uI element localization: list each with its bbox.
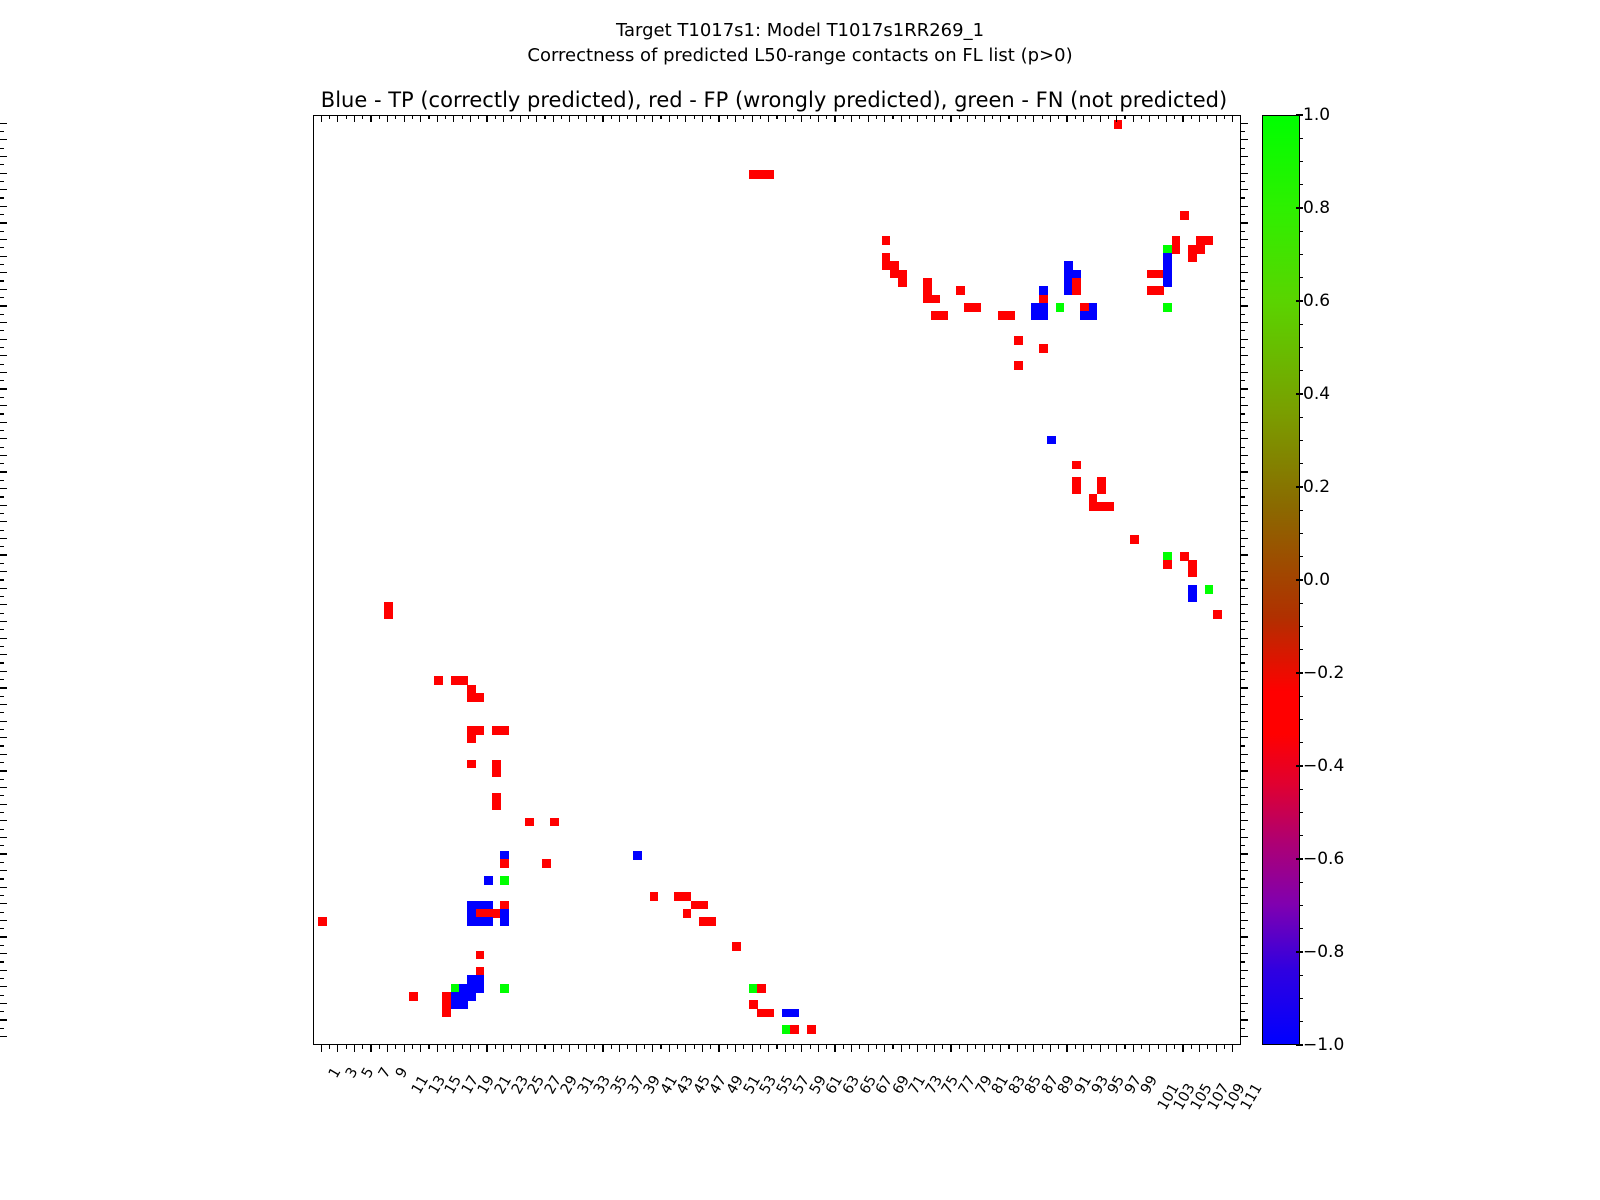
colorbar-minor-tick-mark [1299,696,1303,697]
top-tick-mark [362,115,363,119]
heatmap-cell-fp [766,170,775,179]
x-tick-mark [950,1045,951,1052]
x-tick-mark [644,1045,645,1049]
heatmap-cell-fp [898,278,907,287]
top-tick-mark [876,115,877,119]
heatmap-cell-fp [1180,211,1189,220]
right-tick-mark [1241,853,1248,854]
y-tick-mark [0,687,7,688]
top-tick-mark [884,115,885,122]
y-tick-mark [0,256,7,257]
top-tick-mark [818,115,819,122]
colorbar-minor-tick-mark [1299,463,1303,464]
top-tick-mark [834,115,835,122]
x-tick-mark [909,1045,910,1049]
top-tick-mark [495,115,496,119]
x-tick-mark [495,1045,496,1049]
y-tick-mark [0,314,4,315]
y-tick-mark [0,156,7,157]
right-tick-mark [1241,496,1245,497]
top-tick-mark [1100,115,1101,122]
colorbar-minor-tick-mark [1299,440,1303,441]
y-axis: 1357911131517192123252729313335373941434… [0,115,313,1045]
x-tick-mark [743,1045,744,1049]
right-tick-mark [1241,405,1248,406]
heatmap-cell-fp [1014,336,1023,345]
x-tick-mark [354,1045,355,1052]
right-tick-mark [1241,156,1248,157]
x-tick-mark [586,1045,587,1052]
top-tick-mark [1224,115,1225,119]
x-tick-mark [1058,1045,1059,1049]
x-tick-mark [462,1045,463,1049]
x-tick-mark [660,1045,661,1049]
right-tick-mark [1241,505,1248,506]
x-tick-mark [1100,1045,1101,1052]
right-tick-mark [1241,820,1248,821]
right-tick-mark [1241,804,1248,805]
y-tick-mark [0,347,4,348]
right-tick-mark [1241,289,1248,290]
top-tick-mark [404,115,405,122]
heatmap-cell-fp [1039,344,1048,353]
right-tick-mark [1241,737,1248,738]
figure-suptitle: Target T1017s1: Model T1017s1RR269_1 Cor… [0,18,1600,68]
colorbar-tick-label: −0.4 [1303,756,1344,776]
y-tick-mark [0,521,7,522]
right-tick-mark [1241,554,1248,555]
colorbar-minor-tick-mark [1299,1021,1303,1022]
heatmap-cells [314,116,1240,1044]
x-tick-mark [702,1045,703,1052]
right-tick-mark [1241,687,1248,688]
y-tick-mark [0,322,7,323]
x-tick-mark [892,1045,893,1049]
right-tick-mark [1241,870,1248,871]
y-tick-mark [0,364,4,365]
top-tick-mark [337,115,338,122]
top-tick-mark [520,115,521,122]
x-tick-mark [1124,1045,1125,1049]
heatmap-cell-fn [500,876,509,885]
heatmap-cell-fp [1163,560,1172,569]
heatmap-cell-fp [476,693,485,702]
x-tick-mark [718,1045,719,1052]
x-tick-mark [1182,1045,1183,1052]
y-tick-mark [0,654,7,655]
x-tick-mark [379,1045,380,1049]
top-tick-mark [503,115,504,122]
heatmap-cell-fp [1072,461,1081,470]
top-tick-mark [1091,115,1092,119]
colorbar-minor-tick-mark [1299,719,1303,720]
top-tick-mark [1191,115,1192,119]
heatmap-cell-tp [1039,311,1048,320]
y-tick-mark [0,513,4,514]
y-tick-mark [0,330,4,331]
x-tick-mark [810,1045,811,1049]
right-tick-mark [1241,920,1248,921]
heatmap-cell-tp [633,851,642,860]
y-tick-mark [0,546,4,547]
top-tick-mark [1124,115,1125,119]
x-tick-mark [636,1045,637,1052]
top-tick-mark [776,115,777,119]
right-tick-mark [1241,970,1248,971]
right-tick-mark [1241,862,1245,863]
heatmap-cell-tp [1163,278,1172,287]
y-tick-mark [0,862,4,863]
x-tick-mark [1133,1045,1134,1052]
y-tick-mark [0,554,7,555]
colorbar-minor-tick-mark [1299,812,1303,813]
top-tick-mark [926,115,927,119]
x-tick-mark [727,1045,728,1049]
top-tick-mark [1008,115,1009,119]
right-tick-mark [1241,812,1245,813]
top-tick-mark [594,115,595,119]
y-tick-mark [0,355,7,356]
x-tick-mark [1083,1045,1084,1052]
y-tick-mark [0,588,7,589]
y-tick-mark [0,679,4,680]
x-tick-mark [544,1045,545,1049]
top-tick-mark [1033,115,1034,122]
right-tick-mark [1241,679,1245,680]
right-tick-mark [1241,463,1245,464]
top-tick-mark [851,115,852,122]
heatmap-cell-fp [1205,236,1214,245]
right-tick-mark [1241,339,1248,340]
right-tick-mark [1241,837,1248,838]
right-tick-mark [1241,413,1245,414]
top-tick-mark [1075,115,1076,119]
top-tick-mark [810,115,811,119]
x-tick-mark [470,1045,471,1052]
x-tick-mark [370,1045,371,1052]
x-tick-mark [710,1045,711,1049]
y-tick-mark [0,455,7,456]
right-tick-mark [1241,239,1248,240]
right-tick-mark [1241,430,1245,431]
x-tick-mark [677,1045,678,1049]
x-axis: 1357911131517192123252729313335373941434… [313,1045,1241,1200]
right-tick-mark [1241,671,1248,672]
top-tick-mark [743,115,744,119]
right-tick-mark [1241,961,1245,962]
top-tick-mark [470,115,471,122]
top-tick-mark [420,115,421,122]
heatmap-cell-fp [1014,361,1023,370]
top-tick-mark [702,115,703,122]
top-tick-mark [1042,115,1043,119]
y-tick-mark [0,837,7,838]
y-tick-mark [0,646,4,647]
colorbar-tick-mark [1296,300,1303,301]
heatmap-cell-fp [492,801,501,810]
x-tick-mark [685,1045,686,1052]
heatmap-cell-tp [467,992,476,1001]
x-tick-mark [760,1045,761,1049]
y-tick-mark [0,496,4,497]
x-tick-mark [486,1045,487,1052]
colorbar-tick-label: 0.6 [1303,291,1330,311]
right-tick-mark [1241,397,1245,398]
y-tick-mark [0,787,7,788]
x-tick-label: 1 [326,1065,344,1081]
heatmap-cell-fp [500,726,509,735]
heatmap-cell-fp [1114,120,1123,129]
colorbar-minor-tick-mark [1299,556,1303,557]
top-tick-mark [652,115,653,122]
x-tick-mark [793,1045,794,1049]
y-tick-mark [0,297,4,298]
x-tick-mark [1000,1045,1001,1052]
y-tick-mark [0,995,4,996]
right-tick-mark [1241,845,1245,846]
right-tick-mark [1241,455,1248,456]
y-tick-mark [0,239,7,240]
top-tick-mark [859,115,860,119]
colorbar-minor-tick-mark [1299,882,1303,883]
y-tick-mark [0,804,7,805]
x-tick-mark [1091,1045,1092,1049]
heatmap-cell-fn [500,984,509,993]
right-tick-mark [1241,355,1248,356]
x-tick-label: 9 [393,1065,411,1081]
x-tick-mark [1232,1045,1233,1052]
top-tick-mark [511,115,512,119]
right-tick-mark [1241,912,1245,913]
top-tick-mark [826,115,827,119]
x-tick-mark [511,1045,512,1049]
right-tick-mark [1241,721,1248,722]
right-tick-mark [1241,596,1245,597]
right-tick-mark [1241,173,1248,174]
top-tick-mark [677,115,678,119]
y-tick-mark [0,936,7,937]
colorbar [1262,115,1300,1045]
heatmap-cell-fp [476,726,485,735]
right-tick-mark [1241,604,1248,605]
top-tick-mark [1058,115,1059,119]
top-tick-mark [1158,115,1159,119]
heatmap-cell-fp [492,768,501,777]
right-tick-mark [1241,139,1248,140]
x-tick-mark [1108,1045,1109,1049]
y-tick-mark [0,629,4,630]
y-tick-mark [0,638,7,639]
heatmap-cell-fp [434,676,443,685]
top-tick-mark [486,115,487,122]
top-tick-mark [1083,115,1084,122]
top-tick-mark [354,115,355,122]
x-tick-mark [321,1045,322,1052]
right-tick-mark [1241,1036,1248,1037]
top-tick-mark [453,115,454,122]
x-tick-mark [942,1045,943,1049]
heatmap-cell-fp [940,311,949,320]
heatmap-cell-fp [766,1009,775,1018]
right-tick-mark [1241,729,1245,730]
heatmap-cell-fp [409,992,418,1001]
y-tick-mark [0,596,4,597]
right-tick-mark [1241,1011,1245,1012]
y-tick-mark [0,1028,4,1029]
x-tick-mark [868,1045,869,1052]
heatmap-cell-fp [757,984,766,993]
right-tick-mark [1241,530,1245,531]
top-tick-mark [1216,115,1217,122]
x-tick-mark [801,1045,802,1052]
x-tick-mark [776,1045,777,1049]
right-tick-mark [1241,231,1245,232]
top-tick-mark [412,115,413,119]
heatmap-cell-fp [790,1025,799,1034]
colorbar-minor-tick-mark [1299,231,1303,232]
colorbar-tick-mark [1296,672,1303,673]
top-tick-mark [1108,115,1109,119]
right-tick-mark [1241,347,1245,348]
y-tick-mark [0,488,7,489]
y-tick-mark [0,745,4,746]
x-tick-mark [694,1045,695,1049]
y-tick-mark [0,189,7,190]
top-tick-mark [1000,115,1001,122]
y-tick-mark [0,480,4,481]
colorbar-tick-label: 1.0 [1303,105,1330,125]
right-tick-mark [1241,895,1245,896]
colorbar-tick-label: −0.2 [1303,663,1344,683]
x-tick-mark [1158,1045,1159,1049]
heatmap-cell-tp [484,917,493,926]
right-tick-mark [1241,978,1245,979]
top-tick-mark [445,115,446,119]
heatmap-cell-fp [807,1025,816,1034]
right-tick-mark [1241,563,1245,564]
y-tick-mark [0,704,7,705]
y-tick-mark [0,579,4,580]
y-tick-mark [0,970,7,971]
right-tick-mark [1241,214,1245,215]
x-tick-mark [602,1045,603,1052]
right-tick-mark [1241,629,1245,630]
y-tick-mark [0,770,7,771]
y-tick-mark [0,912,4,913]
y-tick-mark [0,272,7,273]
heatmap-cell-fp [683,909,692,918]
heatmap-cell-fp [467,760,476,769]
y-tick-mark [0,621,7,622]
x-tick-mark [453,1045,454,1052]
y-tick-mark [0,887,7,888]
y-tick-mark [0,729,4,730]
right-tick-mark [1241,1003,1248,1004]
colorbar-minor-tick-mark [1299,324,1303,325]
top-tick-mark [627,115,628,119]
right-tick-mark [1241,471,1248,472]
heatmap-cell-fp [476,951,485,960]
y-tick-mark [0,895,4,896]
x-tick-mark [420,1045,421,1052]
top-tick-mark [395,115,396,119]
x-tick-mark [984,1045,985,1052]
right-tick-mark [1241,222,1248,223]
right-tick-mark [1241,704,1248,705]
top-tick-mark [1207,115,1208,119]
top-tick-mark [544,115,545,119]
heatmap-cell-fp [956,286,965,295]
right-tick-mark [1241,1028,1245,1029]
y-tick-mark [0,1011,4,1012]
heatmap-cell-tp [790,1009,799,1018]
right-tick-mark [1241,181,1245,182]
top-tick-mark [934,115,935,122]
x-tick-mark [1199,1045,1200,1052]
x-tick-mark [1216,1045,1217,1052]
right-tick-mark [1241,388,1248,389]
right-tick-mark [1241,588,1248,589]
y-tick-mark [0,206,7,207]
right-tick-mark [1241,770,1248,771]
heatmap-cell-fp [1130,535,1139,544]
x-tick-mark [1008,1045,1009,1049]
top-tick-mark [992,115,993,119]
y-tick-mark [0,878,4,879]
colorbar-minor-tick-mark [1299,161,1303,162]
top-tick-mark [1182,115,1183,122]
x-tick-mark [428,1045,429,1049]
top-tick-mark [1066,115,1067,122]
y-tick-mark [0,530,4,531]
x-tick-mark [528,1045,529,1049]
top-tick-mark [768,115,769,122]
y-tick-mark [0,853,7,854]
right-tick-mark [1241,272,1248,273]
right-tick-mark [1241,422,1248,423]
right-tick-mark [1241,621,1248,622]
right-tick-mark [1241,754,1248,755]
right-tick-mark [1241,945,1245,946]
x-tick-mark [1174,1045,1175,1049]
x-tick-mark [561,1045,562,1049]
right-tick-mark [1241,762,1245,763]
top-tick-mark [346,115,347,119]
heatmap-cell-fp [525,818,534,827]
top-tick-mark [909,115,910,119]
top-tick-mark [967,115,968,122]
top-tick-mark [984,115,985,122]
x-tick-mark [578,1045,579,1049]
y-tick-mark [0,953,7,954]
top-tick-mark [1199,115,1200,122]
right-tick-mark [1241,928,1245,929]
y-tick-mark [0,247,4,248]
right-tick-mark [1241,197,1245,198]
y-tick-mark [0,438,7,439]
top-tick-mark [694,115,695,119]
top-tick-mark [428,115,429,119]
x-tick-mark [437,1045,438,1052]
top-tick-mark [710,115,711,119]
y-tick-mark [0,779,4,780]
top-tick-mark [569,115,570,122]
heatmap-cell-tp [484,876,493,885]
x-tick-mark [1149,1045,1150,1052]
colorbar-minor-tick-mark [1299,510,1303,511]
x-tick-mark [859,1045,860,1049]
x-tick-mark [752,1045,753,1052]
